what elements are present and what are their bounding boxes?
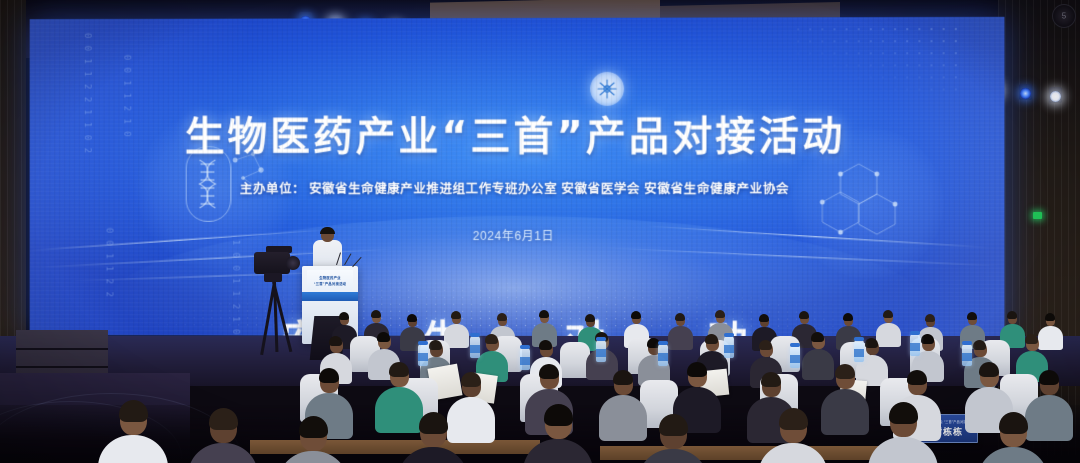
audience-hair — [973, 340, 986, 350]
audience-area — [0, 300, 1080, 463]
water-bottle — [470, 336, 480, 358]
exit-sign-icon — [1033, 212, 1042, 219]
audience-hair — [419, 412, 448, 434]
audience-hair — [925, 314, 935, 322]
audience-hair — [705, 334, 718, 344]
audience-hair — [119, 400, 148, 422]
audience-hair — [539, 310, 549, 318]
water-bottle — [418, 344, 428, 366]
water-bottle — [724, 336, 734, 358]
audience-hair — [613, 370, 633, 385]
audience-hair — [407, 314, 417, 322]
audience-hair — [675, 313, 685, 321]
water-bottle — [658, 344, 668, 366]
audience-shoulders — [599, 395, 648, 442]
audience-hair — [907, 370, 927, 385]
water-bottle — [910, 334, 920, 356]
audience-hair — [339, 312, 349, 320]
audience-hair — [485, 334, 498, 344]
audience-shoulders — [802, 349, 834, 380]
audience-hair — [967, 312, 977, 320]
audience-shoulders — [1038, 326, 1062, 349]
audience-hair — [377, 332, 390, 342]
audience-hair — [999, 412, 1028, 434]
audience-hair — [979, 362, 999, 377]
audience-hair — [329, 336, 342, 346]
audience-hair — [1007, 311, 1017, 319]
audience-hair — [451, 311, 461, 319]
audience-table — [600, 446, 900, 460]
audience-hair — [461, 372, 481, 387]
audience-hair — [687, 362, 707, 377]
audience-hair — [835, 364, 855, 379]
podium-sign-line-2: “三首”产品对接活动 — [314, 281, 347, 286]
water-bottle — [596, 340, 606, 362]
corner-badge-label: 5 — [1062, 12, 1066, 21]
audience-shoulders — [668, 326, 692, 349]
audience-shoulders — [821, 389, 870, 436]
audience-hair — [1025, 334, 1038, 344]
audience-hair — [1045, 313, 1055, 321]
audience-hair — [497, 313, 507, 321]
audience-hair — [799, 311, 809, 319]
audience-hair — [759, 314, 769, 322]
audience-hair — [544, 404, 573, 426]
audience-hair — [811, 332, 824, 342]
audience-shoulders — [1025, 395, 1074, 442]
water-bottle — [520, 348, 530, 370]
audience-shoulders — [447, 397, 496, 444]
ceiling-speaker-icon: 5 — [1052, 4, 1076, 28]
led-backdrop-screen: 0 0 1 1 2 2 1 1 0 2 0 0 1 1 2 1 0 1 0 0 … — [30, 17, 1005, 337]
audience-hair — [319, 368, 339, 383]
audience-shoulders — [375, 387, 424, 434]
water-bottle — [790, 346, 800, 368]
audience-hair — [389, 362, 409, 377]
audience-hair — [209, 408, 238, 430]
audience-table — [250, 440, 540, 454]
audience-hair — [921, 334, 934, 344]
audience-hair — [299, 416, 328, 438]
audience-hair — [779, 408, 808, 430]
podium-sign-line-1: 生物医药产业 — [319, 275, 341, 280]
audience-hair — [539, 340, 552, 350]
audience-hair — [889, 402, 918, 424]
audience-hair — [883, 310, 893, 318]
water-bottle — [962, 344, 972, 366]
audience-shoulders — [876, 323, 900, 346]
audience-hair — [715, 310, 725, 318]
audience-hair — [539, 364, 559, 379]
podium-sign: 生物医药产业 “三首”产品对接活动 — [307, 270, 353, 290]
audience-hair — [429, 340, 442, 350]
audience-hair — [843, 313, 853, 321]
audience-hair — [631, 311, 641, 319]
stage-light — [1050, 91, 1061, 102]
audience-hair — [585, 314, 595, 322]
audience-hair — [659, 414, 688, 436]
stage-light — [1020, 88, 1031, 99]
audience-hair — [865, 338, 878, 348]
conference-hall-photo: 0 0 1 1 2 2 1 1 0 2 0 0 1 1 2 1 0 1 0 0 … — [0, 0, 1080, 463]
audience-hair — [371, 310, 381, 318]
water-bottle — [854, 340, 864, 362]
audience-hair — [759, 340, 772, 350]
audience-hair — [761, 372, 781, 387]
audience-hair — [1039, 370, 1059, 385]
